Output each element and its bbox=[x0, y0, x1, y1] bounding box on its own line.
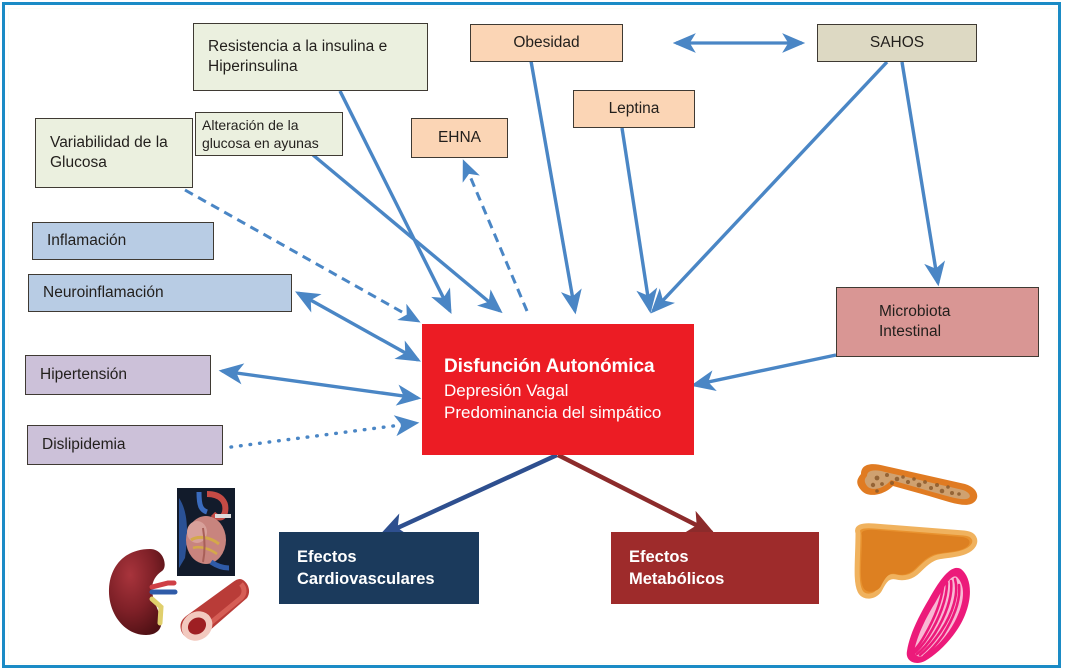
node-efectos-cardiovasculares[interactable]: Efectos Cardiovasculares bbox=[279, 532, 479, 604]
node-label: Alteración de la glucosa en ayunas bbox=[202, 116, 319, 153]
skeletal-muscle-illustration bbox=[895, 565, 987, 665]
node-inflamacion[interactable]: Inflamación bbox=[32, 222, 214, 260]
node-leptina[interactable]: Leptina bbox=[573, 90, 695, 128]
edge-dislipidemia-disfuncion bbox=[231, 423, 416, 447]
node-label: Resistencia a la insulina e Hiperinsulin… bbox=[208, 37, 387, 78]
node-label: Leptina bbox=[609, 99, 660, 119]
node-label: Inflamación bbox=[47, 231, 126, 251]
node-label: Neuroinflamación bbox=[43, 283, 164, 303]
edge-neuroinflamacion-disfuncion bbox=[298, 293, 418, 360]
node-variabilidad-glucosa[interactable]: Variabilidad de la Glucosa bbox=[35, 118, 193, 188]
edge-obesidad-disfuncion bbox=[531, 61, 575, 311]
heart-illustration bbox=[177, 488, 235, 576]
diagram-canvas: Resistencia a la insulina e Hiperinsulin… bbox=[0, 0, 1065, 672]
edge-sahos-microbiota bbox=[902, 62, 938, 283]
node-neuroinflamacion[interactable]: Neuroinflamación bbox=[28, 274, 292, 312]
node-efectos-metabolicos[interactable]: Efectos Metabólicos bbox=[611, 532, 819, 604]
node-label: EHNA bbox=[438, 128, 481, 148]
disfuncion-title: Disfunción Autonómica bbox=[444, 355, 694, 380]
artery-illustration bbox=[175, 576, 255, 644]
node-label: Variabilidad de la Glucosa bbox=[50, 133, 168, 174]
disfuncion-line-3: Predominancia del simpático bbox=[444, 402, 694, 424]
node-disfuncion-autonomica[interactable]: Disfunción Autonómica Depresión Vagal Pr… bbox=[422, 324, 694, 455]
edge-disfuncion-metabolicos bbox=[558, 455, 712, 533]
node-resistencia-insulina[interactable]: Resistencia a la insulina e Hiperinsulin… bbox=[193, 23, 428, 91]
node-label: Hipertensión bbox=[40, 365, 127, 385]
edge-hipertension-disfuncion bbox=[222, 371, 418, 398]
node-ehna[interactable]: EHNA bbox=[411, 118, 508, 158]
node-label: Obesidad bbox=[513, 33, 579, 53]
node-microbiota-intestinal[interactable]: Microbiota Intestinal bbox=[836, 287, 1039, 357]
node-obesidad[interactable]: Obesidad bbox=[470, 24, 623, 62]
node-label: Efectos Cardiovasculares bbox=[297, 546, 435, 591]
kidney-illustration bbox=[104, 545, 180, 641]
node-label: SAHOS bbox=[870, 33, 924, 53]
node-label: Efectos Metabólicos bbox=[629, 546, 724, 591]
disfuncion-line-2: Depresión Vagal bbox=[444, 380, 694, 402]
node-label: Dislipidemia bbox=[42, 435, 126, 455]
node-alteracion-glucosa[interactable]: Alteración de la glucosa en ayunas bbox=[195, 112, 343, 156]
node-label: Microbiota Intestinal bbox=[879, 302, 951, 343]
edge-disfuncion-cardiovasculares bbox=[382, 455, 557, 535]
node-dislipidemia[interactable]: Dislipidemia bbox=[27, 425, 223, 465]
pancreas-illustration bbox=[853, 460, 983, 520]
node-hipertension[interactable]: Hipertensión bbox=[25, 355, 211, 395]
edge-microbiota-disfuncion bbox=[694, 355, 836, 385]
node-sahos[interactable]: SAHOS bbox=[817, 24, 977, 62]
edge-leptina-disfuncion bbox=[622, 128, 650, 310]
